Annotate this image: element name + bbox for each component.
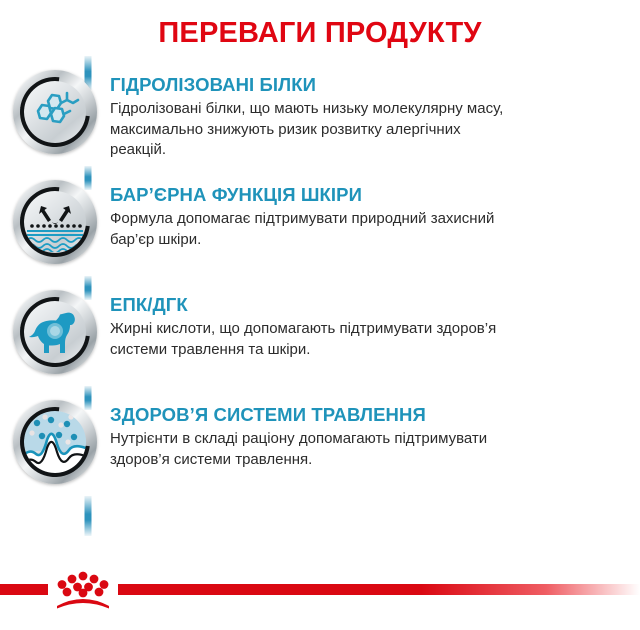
benefit-icon-wrap [0, 68, 110, 154]
benefit-heading: ЗДОРОВ’Я СИСТЕМИ ТРАВЛЕННЯ [110, 404, 510, 426]
benefit-text: ЗДОРОВ’Я СИСТЕМИ ТРАВЛЕННЯ Нутрієнти в с… [110, 398, 522, 470]
benefit-item: ЕПК/ДГК Жирні кислоти, що допомагають пі… [0, 288, 640, 398]
footer-bar-left [0, 584, 48, 595]
benefit-item: БАР’ЄРНА ФУНКЦІЯ ШКІРИ Формула допомагає… [0, 178, 640, 288]
page-title: ПЕРЕВАГИ ПРОДУКТУ [0, 0, 640, 50]
benefits-list: ГІДРОЛІЗОВАНІ БІЛКИ Гідролізовані білки,… [0, 68, 640, 508]
footer-bar-right [118, 584, 640, 595]
benefit-text: БАР’ЄРНА ФУНКЦІЯ ШКІРИ Формула допомагає… [110, 178, 522, 250]
digestive-wave-icon [13, 400, 97, 484]
benefit-body: Жирні кислоти, що допомагають підтримува… [110, 319, 510, 360]
benefit-icon-wrap [0, 398, 110, 484]
benefit-icon-wrap [0, 288, 110, 374]
benefit-item: ЗДОРОВ’Я СИСТЕМИ ТРАВЛЕННЯ Нутрієнти в с… [0, 398, 640, 508]
benefit-body: Нутрієнти в складі раціону допомагають п… [110, 429, 510, 470]
molecule-icon [13, 70, 97, 154]
benefit-heading: ЕПК/ДГК [110, 294, 510, 316]
benefit-heading: БАР’ЄРНА ФУНКЦІЯ ШКІРИ [110, 184, 510, 206]
benefit-body: Формула допомагає підтримувати природний… [110, 209, 510, 250]
benefit-text: ГІДРОЛІЗОВАНІ БІЛКИ Гідролізовані білки,… [110, 68, 522, 161]
royal-canin-crown-logo [52, 570, 114, 612]
dog-icon [13, 290, 97, 374]
benefit-heading: ГІДРОЛІЗОВАНІ БІЛКИ [110, 74, 510, 96]
skin-barrier-icon [13, 180, 97, 264]
benefit-icon-wrap [0, 178, 110, 264]
footer [0, 556, 640, 630]
benefit-item: ГІДРОЛІЗОВАНІ БІЛКИ Гідролізовані білки,… [0, 68, 640, 178]
benefit-body: Гідролізовані білки, що мають низьку мол… [110, 99, 510, 161]
benefit-text: ЕПК/ДГК Жирні кислоти, що допомагають пі… [110, 288, 522, 360]
